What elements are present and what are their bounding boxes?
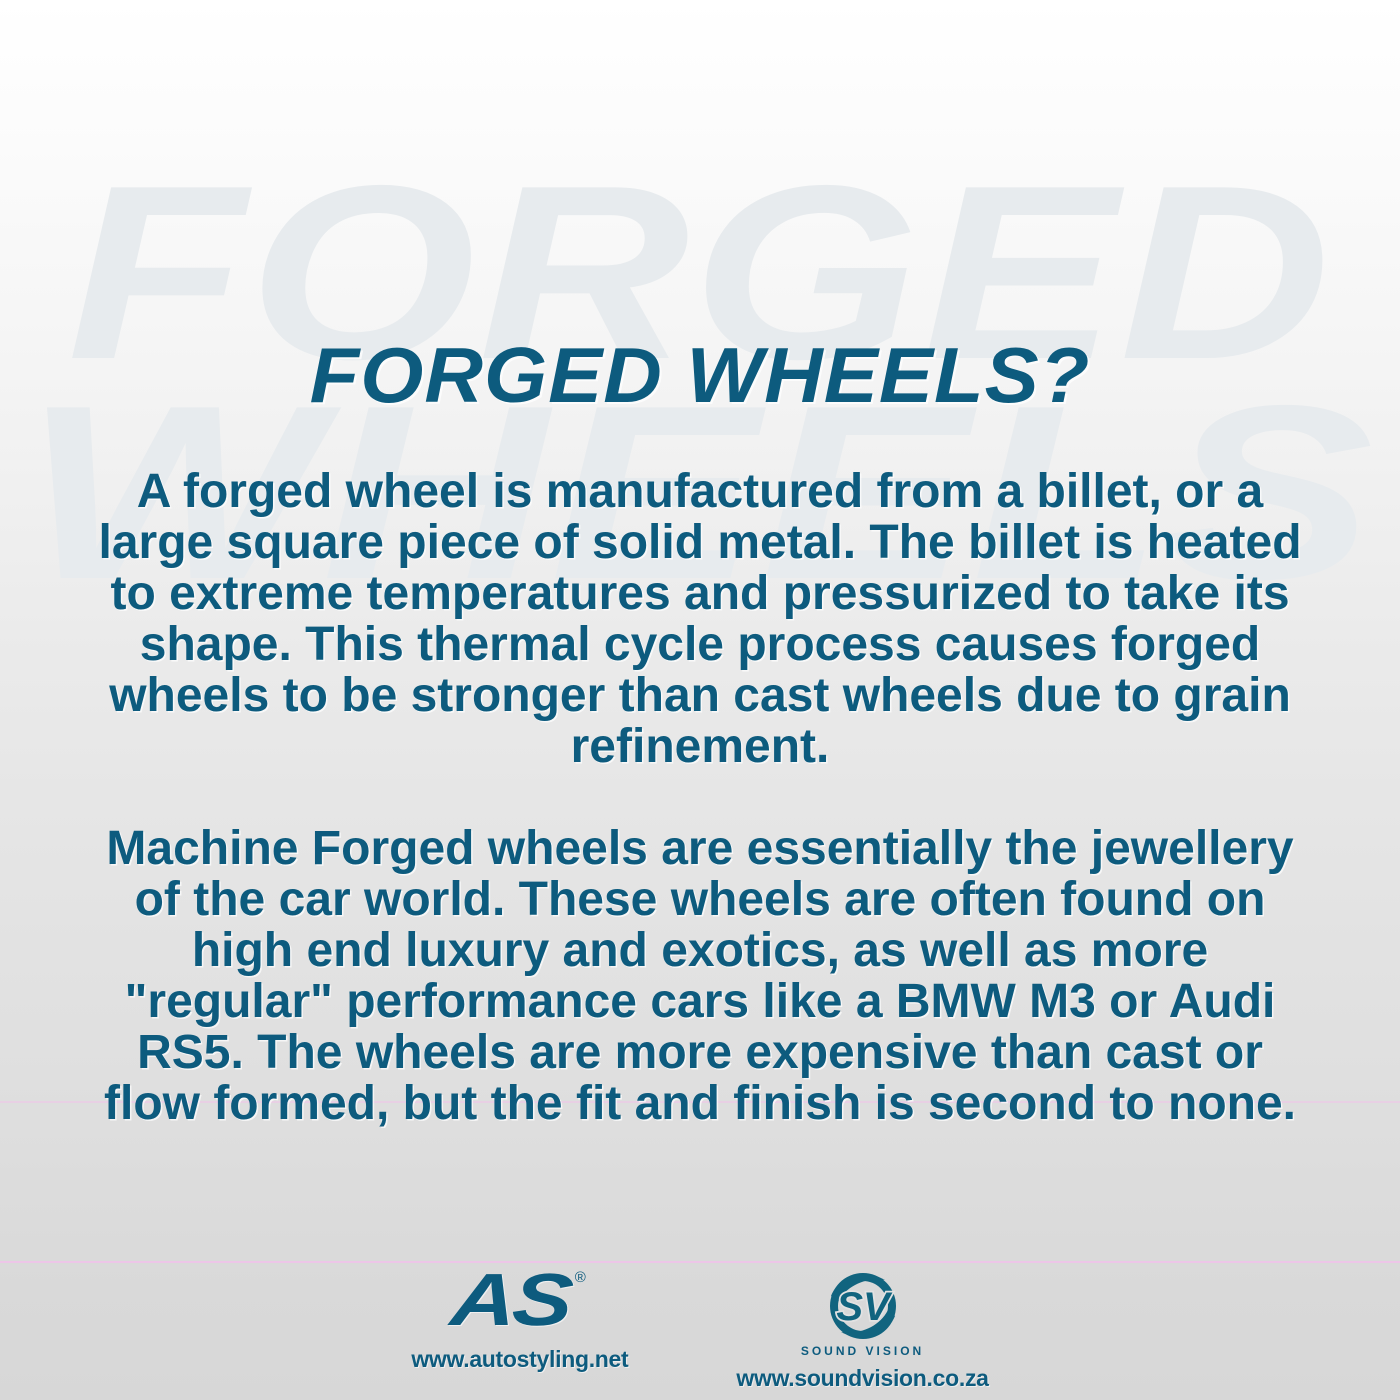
svg-text:SV: SV <box>836 1285 893 1329</box>
paragraph-one: A forged wheel is manufactured from a bi… <box>96 466 1304 772</box>
brand-soundvision[interactable]: SV SOUND VISION www.soundvision.co.za <box>736 1268 988 1392</box>
poster-canvas: FORGED WHEELS FORGED WHEELS? A forged wh… <box>0 0 1400 1400</box>
paragraph-spacer <box>96 772 1304 823</box>
page-title: FORGED WHEELS? <box>0 336 1400 414</box>
soundvision-url[interactable]: www.soundvision.co.za <box>736 1365 988 1392</box>
soundvision-emblem-icon: SV <box>817 1268 909 1346</box>
paragraph-two: Machine Forged wheels are essentially th… <box>96 823 1304 1129</box>
divider-hairline-lower <box>0 1261 1400 1263</box>
registered-trademark-icon: ® <box>575 1270 586 1285</box>
brand-autostyling[interactable]: AS ® www.autostyling.net <box>411 1268 628 1373</box>
body-copy: A forged wheel is manufactured from a bi… <box>96 466 1304 1129</box>
soundvision-logo: SV <box>817 1268 909 1346</box>
autostyling-url[interactable]: www.autostyling.net <box>411 1346 628 1373</box>
soundvision-tagline: SOUND VISION <box>801 1344 924 1358</box>
footer-brands: AS ® www.autostyling.net SV SOUND VISION… <box>0 1268 1400 1400</box>
autostyling-logo-text: AS <box>448 1268 572 1332</box>
autostyling-logo: AS ® <box>454 1268 586 1334</box>
